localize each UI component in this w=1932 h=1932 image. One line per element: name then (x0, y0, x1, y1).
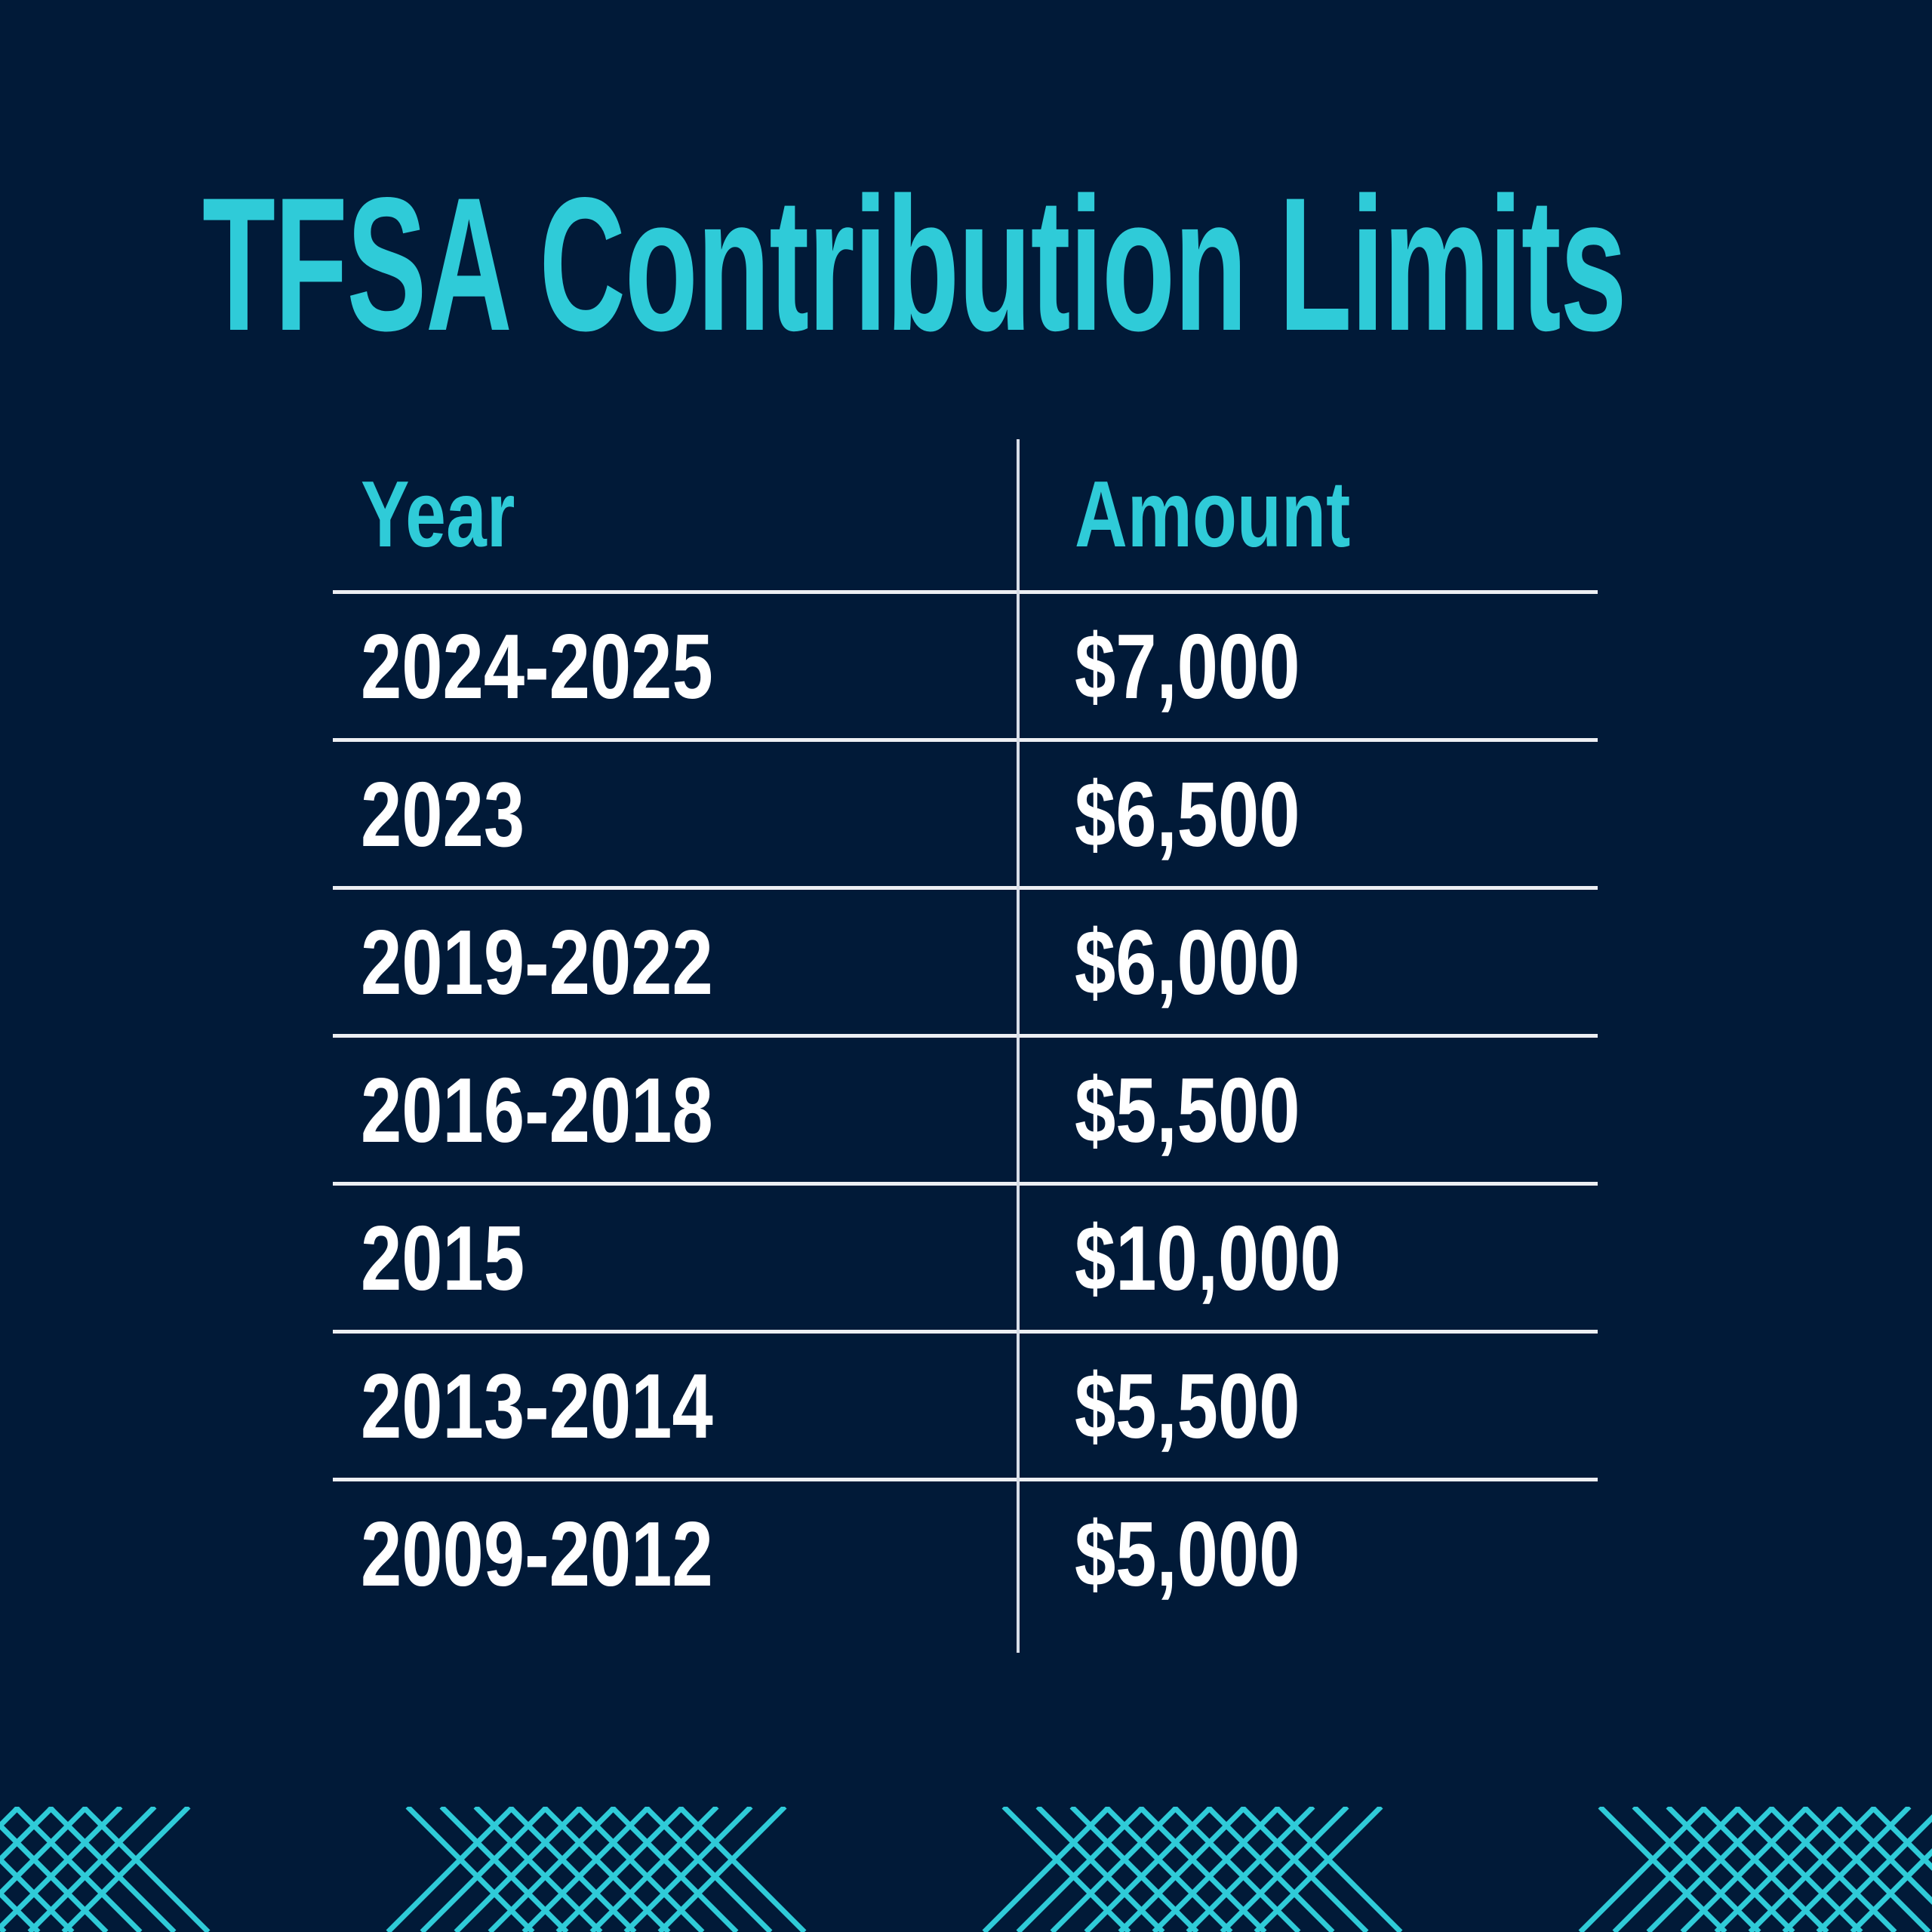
table-cell-year: 2015 (333, 1212, 1017, 1304)
table-cell-amount: $6,500 (1017, 768, 1598, 860)
column-header-year-label: Year (361, 468, 515, 561)
table-row: 2024-2025 $7,000 (333, 590, 1598, 738)
table-cell-year-value: 2024-2025 (361, 620, 713, 712)
table-column-divider (1017, 439, 1020, 1653)
table-cell-year: 2023 (333, 768, 1017, 860)
table-cell-year: 2013-2014 (333, 1360, 1017, 1452)
table-cell-amount-value: $10,000 (1075, 1212, 1341, 1304)
chevron-stripe-svg (0, 1807, 1932, 1932)
table-cell-amount-value: $5,500 (1075, 1360, 1300, 1452)
table-cell-amount-value: $6,500 (1075, 768, 1300, 860)
table-cell-year: 2024-2025 (333, 620, 1017, 712)
table-cell-year: 2009-2012 (333, 1508, 1017, 1600)
table-row: 2023 $6,500 (333, 738, 1598, 886)
table-cell-year-value: 2023 (361, 768, 525, 860)
table-cell-amount-value: $5,500 (1075, 1064, 1300, 1156)
table-cell-year-value: 2009-2012 (361, 1508, 713, 1600)
table-cell-amount: $10,000 (1017, 1212, 1598, 1304)
table-cell-amount: $7,000 (1017, 620, 1598, 712)
table-cell-year-value: 2015 (361, 1212, 525, 1304)
table-row: 2009-2012 $5,000 (333, 1478, 1598, 1626)
table-row: 2016-2018 $5,500 (333, 1034, 1598, 1182)
table-cell-year-value: 2016-2018 (361, 1064, 713, 1156)
column-header-amount: Amount (1017, 468, 1598, 561)
table-cell-year: 2016-2018 (333, 1064, 1017, 1156)
infographic-canvas: TFSA Contribution Limits Year Amount 202… (0, 0, 1932, 1932)
table-cell-amount: $5,500 (1017, 1360, 1598, 1452)
table-cell-amount-value: $7,000 (1075, 620, 1300, 712)
chevron-stripe-band-decoration (0, 1807, 1932, 1932)
table-row: 2019-2022 $6,000 (333, 886, 1598, 1034)
table-header-row: Year Amount (333, 439, 1598, 590)
column-header-year: Year (333, 468, 1017, 561)
table-cell-amount-value: $5,000 (1075, 1508, 1300, 1600)
page-title: TFSA Contribution Limits (202, 178, 1153, 352)
table-cell-year: 2019-2022 (333, 916, 1017, 1008)
table-row: 2013-2014 $5,500 (333, 1330, 1598, 1478)
table-cell-amount: $5,000 (1017, 1508, 1598, 1600)
column-header-amount-label: Amount (1075, 468, 1350, 561)
table-cell-year-value: 2019-2022 (361, 916, 713, 1008)
table-cell-amount: $6,000 (1017, 916, 1598, 1008)
table-cell-amount: $5,500 (1017, 1064, 1598, 1156)
table-cell-amount-value: $6,000 (1075, 916, 1300, 1008)
tfsa-limits-table: Year Amount 2024-2025 $7,000 2023 $6,500 (333, 439, 1598, 1626)
table-cell-year-value: 2013-2014 (361, 1360, 713, 1452)
table-row: 2015 $10,000 (333, 1182, 1598, 1330)
